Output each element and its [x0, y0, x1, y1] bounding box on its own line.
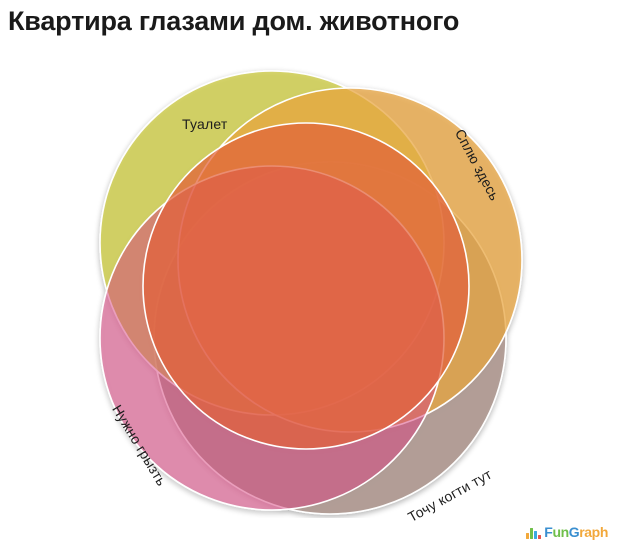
logo-part-raph: raph: [579, 524, 608, 540]
logo-part-un: un: [552, 524, 568, 540]
fungraph-logo-text: FunGraph: [544, 525, 608, 539]
venn-svg: [0, 38, 620, 518]
page-title: Квартира глазами дом. животного: [8, 4, 459, 38]
bar-chart-icon: [526, 527, 541, 539]
venn-diagram: Туалет Сплю здесь Нужно грызть Точу когт…: [0, 38, 620, 518]
fungraph-logo[interactable]: FunGraph: [526, 521, 608, 539]
logo-part-g: G: [569, 524, 580, 540]
venn-label-toilet: Туалет: [182, 117, 228, 131]
venn-circle-other[interactable]: [143, 123, 469, 449]
poster-canvas: Квартира глазами дом. животного: [0, 0, 620, 547]
